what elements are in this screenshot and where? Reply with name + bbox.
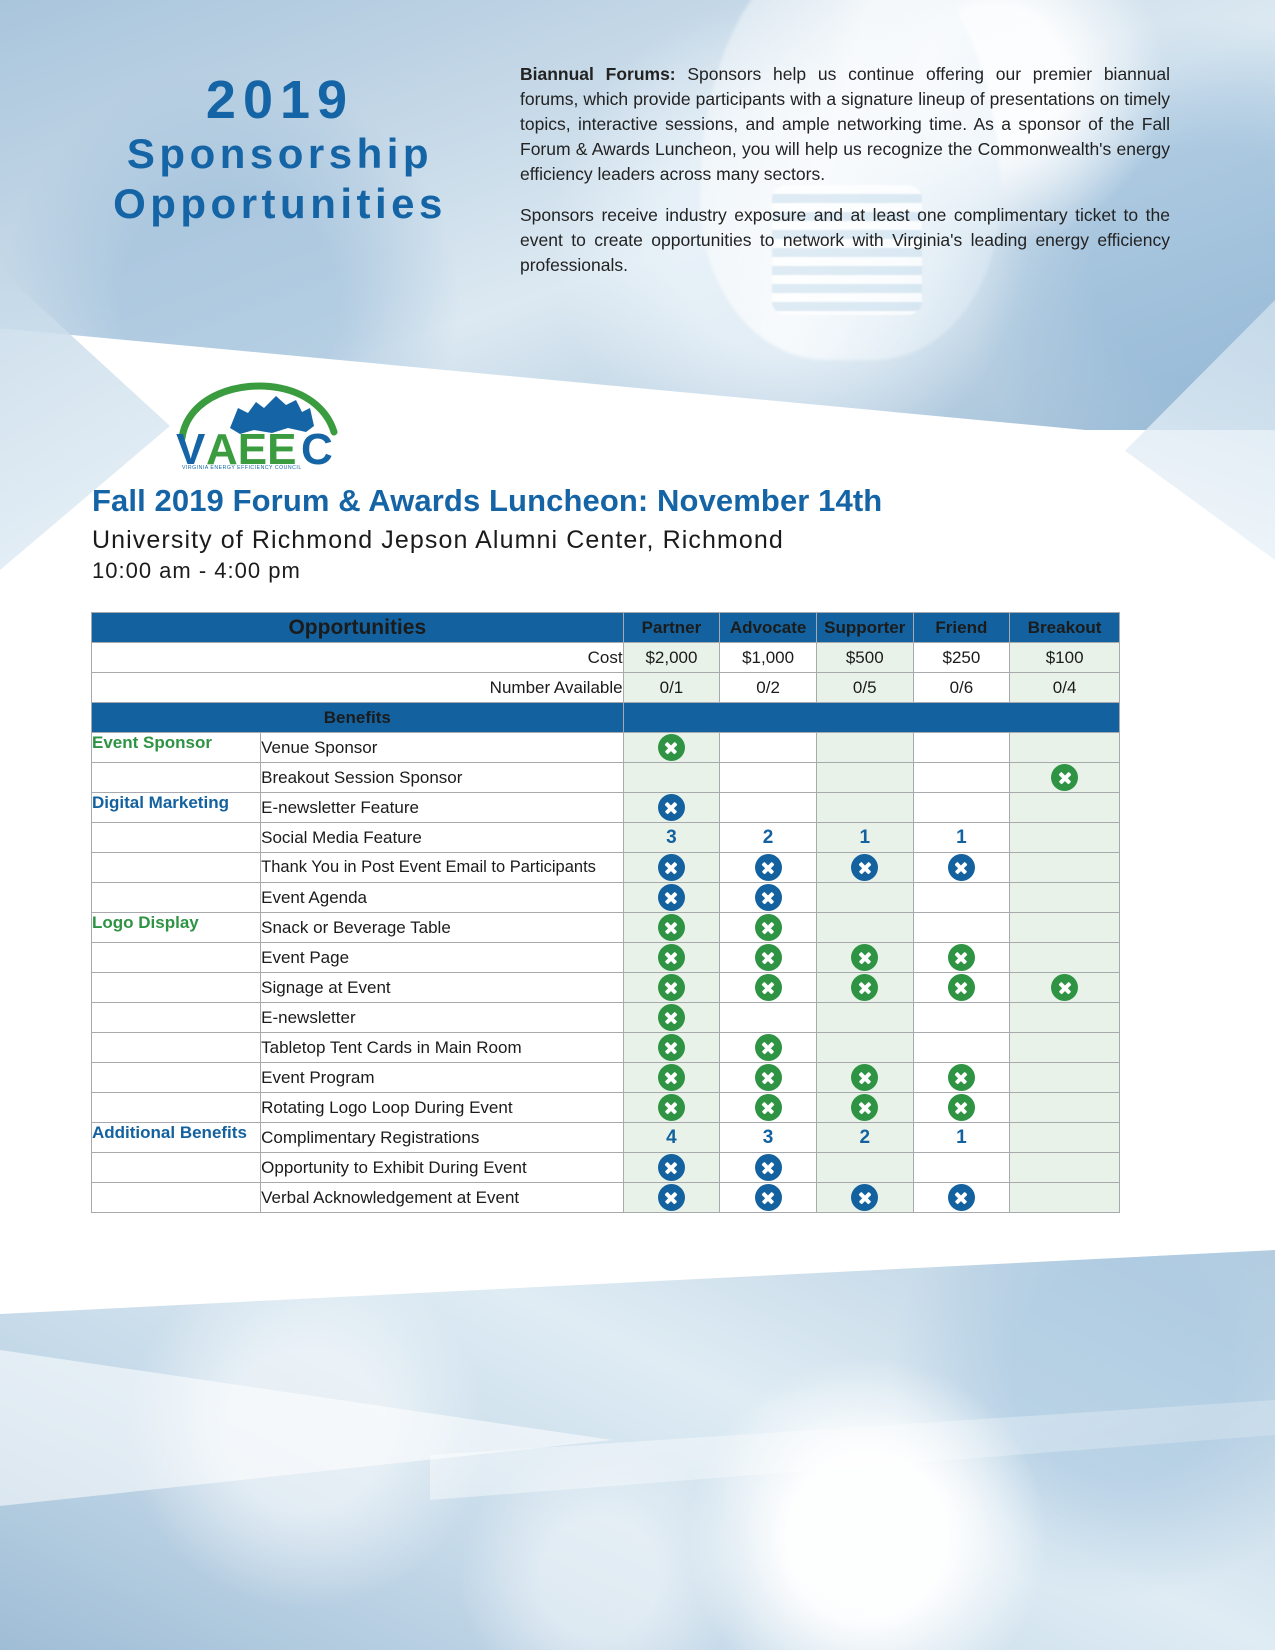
check-green-icon: [658, 1004, 685, 1031]
sponsorship-table: OpportunitiesPartnerAdvocateSupporterFri…: [91, 612, 1120, 1213]
benefit-category: [92, 943, 261, 973]
benefit-category: [92, 1003, 261, 1033]
benefit-cell: [623, 943, 720, 973]
check-green-icon: [658, 914, 685, 941]
check-green-icon: [851, 1094, 878, 1121]
benefit-cell: [816, 883, 913, 913]
benefit-label: Event Agenda: [261, 883, 623, 913]
intro-lead-label: Biannual Forums:: [520, 64, 676, 84]
check-green-icon: [755, 1064, 782, 1091]
intro-paragraph-1: Biannual Forums: Sponsors help us contin…: [520, 62, 1170, 187]
benefit-label: E-newsletter: [261, 1003, 623, 1033]
benefit-cell: 2: [816, 1123, 913, 1153]
check-green-icon: [755, 974, 782, 1001]
svg-text:C: C: [301, 425, 333, 470]
benefit-category: Logo Display: [92, 913, 261, 943]
benefit-label: E-newsletter Feature: [261, 793, 623, 823]
check-blue-icon: [755, 854, 782, 881]
page-header: 2019 Sponsorship Opportunities Biannual …: [0, 0, 1275, 360]
benefit-cell: [913, 913, 1010, 943]
svg-text:AEE: AEE: [206, 425, 296, 470]
benefit-cell: [816, 1003, 913, 1033]
benefit-cell: [1010, 1093, 1120, 1123]
benefit-cell: [623, 883, 720, 913]
benefit-cell: [623, 763, 720, 793]
check-green-icon: [851, 944, 878, 971]
column-header-partner: Partner: [623, 613, 720, 643]
intro-text-block: Biannual Forums: Sponsors help us contin…: [520, 62, 1170, 278]
benefit-cell: 3: [720, 1123, 817, 1153]
benefit-label: Signage at Event: [261, 973, 623, 1003]
benefit-cell: [720, 1033, 817, 1063]
table-row: Rotating Logo Loop During Event: [92, 1093, 1120, 1123]
benefit-cell: 3: [623, 823, 720, 853]
benefit-cell: [1010, 763, 1120, 793]
check-green-icon: [658, 1094, 685, 1121]
table-row: Social Media Feature3211: [92, 823, 1120, 853]
cost-value: $2,000: [623, 643, 720, 673]
benefit-category: [92, 823, 261, 853]
benefit-cell: [913, 733, 1010, 763]
benefit-quantity: 1: [956, 827, 967, 848]
benefit-label: Venue Sponsor: [261, 733, 623, 763]
table-row: Tabletop Tent Cards in Main Room: [92, 1033, 1120, 1063]
benefit-cell: [816, 913, 913, 943]
table-row: Verbal Acknowledgement at Event: [92, 1183, 1120, 1213]
sponsorship-table-wrapper: OpportunitiesPartnerAdvocateSupporterFri…: [91, 612, 1120, 1213]
benefit-label: Social Media Feature: [261, 823, 623, 853]
check-green-icon: [851, 1064, 878, 1091]
check-green-icon: [755, 914, 782, 941]
check-green-icon: [658, 1034, 685, 1061]
column-header-advocate: Advocate: [720, 613, 817, 643]
benefit-cell: [913, 1183, 1010, 1213]
number-available-value: 0/1: [623, 673, 720, 703]
check-blue-icon: [851, 1184, 878, 1211]
column-header-friend: Friend: [913, 613, 1010, 643]
benefit-cell: [720, 1153, 817, 1183]
benefit-cell: [1010, 853, 1120, 883]
benefit-category: [92, 1153, 261, 1183]
benefit-cell: [720, 943, 817, 973]
benefit-category: Additional Benefits: [92, 1123, 261, 1153]
svg-text:V: V: [176, 425, 206, 470]
benefit-cell: [816, 1093, 913, 1123]
column-header-opportunities: Opportunities: [92, 613, 624, 643]
table-row: Event Page: [92, 943, 1120, 973]
check-green-icon: [658, 944, 685, 971]
cost-value: $100: [1010, 643, 1120, 673]
benefit-cell: [623, 1153, 720, 1183]
benefit-label: Breakout Session Sponsor: [261, 763, 623, 793]
benefit-cell: [816, 793, 913, 823]
benefit-cell: [623, 1183, 720, 1213]
benefit-label: Tabletop Tent Cards in Main Room: [261, 1033, 623, 1063]
benefit-category: [92, 1093, 261, 1123]
check-green-icon: [1051, 974, 1078, 1001]
event-time: 10:00 am - 4:00 pm: [92, 558, 1142, 584]
benefit-category: Event Sponsor: [92, 733, 261, 763]
benefit-quantity: 2: [859, 1127, 870, 1148]
intro-paragraph-2: Sponsors receive industry exposure and a…: [520, 203, 1170, 278]
benefit-category: [92, 1033, 261, 1063]
benefit-cell: [816, 763, 913, 793]
benefit-cell: [1010, 1003, 1120, 1033]
benefit-cell: [720, 883, 817, 913]
number-available-value: 0/2: [720, 673, 817, 703]
benefit-cell: [1010, 973, 1120, 1003]
table-row-cost: Cost$2,000$1,000$500$250$100: [92, 643, 1120, 673]
check-green-icon: [658, 974, 685, 1001]
benefit-category: [92, 1183, 261, 1213]
benefit-cell: [913, 763, 1010, 793]
benefit-cell: [1010, 883, 1120, 913]
benefit-category: [92, 1063, 261, 1093]
benefit-cell: [816, 1153, 913, 1183]
table-header-row: OpportunitiesPartnerAdvocateSupporterFri…: [92, 613, 1120, 643]
benefit-cell: [720, 973, 817, 1003]
column-header-supporter: Supporter: [816, 613, 913, 643]
number-available-label: Number Available: [92, 673, 624, 703]
table-section-benefits: Benefits: [92, 703, 1120, 733]
title-year: 2019: [55, 72, 505, 129]
benefit-cell: [720, 853, 817, 883]
check-blue-icon: [851, 854, 878, 881]
table-row: Logo DisplaySnack or Beverage Table: [92, 913, 1120, 943]
check-green-icon: [658, 1064, 685, 1091]
benefit-cell: [720, 1183, 817, 1213]
benefit-cell: [623, 733, 720, 763]
check-blue-icon: [948, 854, 975, 881]
benefit-quantity: 4: [666, 1127, 677, 1148]
benefit-quantity: 3: [763, 1127, 774, 1148]
table-row: Breakout Session Sponsor: [92, 763, 1120, 793]
benefit-category: [92, 883, 261, 913]
benefit-cell: [623, 1093, 720, 1123]
benefit-cell: [913, 1093, 1010, 1123]
benefit-cell: [720, 1003, 817, 1033]
benefits-section-spacer: [623, 703, 1119, 733]
check-green-icon: [948, 1064, 975, 1091]
check-blue-icon: [658, 1184, 685, 1211]
benefit-category: [92, 973, 261, 1003]
cost-value: $1,000: [720, 643, 817, 673]
number-available-value: 0/4: [1010, 673, 1120, 703]
benefit-category: Digital Marketing: [92, 793, 261, 823]
table-row: Opportunity to Exhibit During Event: [92, 1153, 1120, 1183]
event-title: Fall 2019 Forum & Awards Luncheon: Novem…: [92, 482, 1142, 519]
check-blue-icon: [948, 1184, 975, 1211]
cost-value: $250: [913, 643, 1010, 673]
benefit-cell: [913, 883, 1010, 913]
check-blue-icon: [755, 884, 782, 911]
table-row: Additional BenefitsComplimentary Registr…: [92, 1123, 1120, 1153]
benefit-cell: 2: [720, 823, 817, 853]
benefit-cell: [913, 973, 1010, 1003]
check-green-icon: [948, 1094, 975, 1121]
benefit-quantity: 2: [763, 827, 774, 848]
benefit-category: [92, 853, 261, 883]
benefit-label: Snack or Beverage Table: [261, 913, 623, 943]
number-available-value: 0/5: [816, 673, 913, 703]
benefit-cell: [816, 943, 913, 973]
benefit-cell: [913, 1003, 1010, 1033]
benefit-cell: 4: [623, 1123, 720, 1153]
benefit-cell: [720, 733, 817, 763]
benefit-cell: [1010, 1153, 1120, 1183]
event-venue: University of Richmond Jepson Alumni Cen…: [92, 526, 1142, 555]
benefit-cell: [623, 973, 720, 1003]
benefit-cell: 1: [913, 823, 1010, 853]
benefit-cell: [1010, 1183, 1120, 1213]
benefit-cell: [1010, 733, 1120, 763]
benefit-cell: [1010, 943, 1120, 973]
check-green-icon: [851, 974, 878, 1001]
check-green-icon: [948, 944, 975, 971]
check-green-icon: [658, 734, 685, 761]
benefit-cell: 1: [816, 823, 913, 853]
benefit-cell: [1010, 1063, 1120, 1093]
benefit-cell: [720, 1093, 817, 1123]
check-blue-icon: [658, 794, 685, 821]
benefit-cell: [623, 793, 720, 823]
benefit-cell: [623, 1033, 720, 1063]
benefit-cell: 1: [913, 1123, 1010, 1153]
benefit-cell: [816, 1033, 913, 1063]
page-title: 2019 Sponsorship Opportunities: [55, 72, 505, 229]
table-row-number-available: Number Available0/10/20/50/60/4: [92, 673, 1120, 703]
benefit-cell: [720, 913, 817, 943]
table-row: Event Agenda: [92, 883, 1120, 913]
benefit-cell: [816, 1063, 913, 1093]
table-row: Thank You in Post Event Email to Partici…: [92, 853, 1120, 883]
cost-value: $500: [816, 643, 913, 673]
vaeec-logo: V AEE C VIRGINIA ENERGY EFFICIENCY COUNC…: [168, 378, 346, 470]
benefit-cell: [623, 913, 720, 943]
title-sponsorship: Sponsorship: [55, 129, 505, 179]
check-green-icon: [948, 974, 975, 1001]
benefit-cell: [816, 973, 913, 1003]
table-row: Digital MarketingE-newsletter Feature: [92, 793, 1120, 823]
benefit-cell: [913, 1153, 1010, 1183]
table-row: E-newsletter: [92, 1003, 1120, 1033]
benefit-cell: [720, 1063, 817, 1093]
check-blue-icon: [658, 854, 685, 881]
benefit-cell: [623, 853, 720, 883]
benefit-cell: [913, 943, 1010, 973]
check-blue-icon: [755, 1154, 782, 1181]
benefit-label: Opportunity to Exhibit During Event: [261, 1153, 623, 1183]
number-available-value: 0/6: [913, 673, 1010, 703]
cost-label: Cost: [92, 643, 624, 673]
check-blue-icon: [755, 1184, 782, 1211]
benefit-cell: [623, 1003, 720, 1033]
benefit-cell: [1010, 823, 1120, 853]
benefit-cell: [720, 793, 817, 823]
vaeec-logo-icon: V AEE C VIRGINIA ENERGY EFFICIENCY COUNC…: [168, 378, 346, 470]
benefit-cell: [1010, 913, 1120, 943]
benefit-cell: [1010, 793, 1120, 823]
benefit-category: [92, 763, 261, 793]
sponsorship-table-body: OpportunitiesPartnerAdvocateSupporterFri…: [92, 613, 1120, 1213]
benefit-cell: [816, 733, 913, 763]
benefit-cell: [913, 1033, 1010, 1063]
table-row: Event SponsorVenue Sponsor: [92, 733, 1120, 763]
benefit-cell: [1010, 1123, 1120, 1153]
benefit-label: Rotating Logo Loop During Event: [261, 1093, 623, 1123]
column-header-breakout: Breakout: [1010, 613, 1120, 643]
benefit-label: Verbal Acknowledgement at Event: [261, 1183, 623, 1213]
benefit-cell: [913, 1063, 1010, 1093]
benefit-cell: [816, 853, 913, 883]
logo-tagline: VIRGINIA ENERGY EFFICIENCY COUNCIL: [182, 465, 302, 470]
benefit-quantity: 3: [666, 827, 677, 848]
event-heading-block: Fall 2019 Forum & Awards Luncheon: Novem…: [92, 482, 1142, 584]
table-row: Signage at Event: [92, 973, 1120, 1003]
benefit-cell: [913, 853, 1010, 883]
benefit-cell: [816, 1183, 913, 1213]
check-blue-icon: [658, 1154, 685, 1181]
check-green-icon: [1051, 764, 1078, 791]
benefit-label: Complimentary Registrations: [261, 1123, 623, 1153]
benefit-cell: [720, 763, 817, 793]
benefit-cell: [623, 1063, 720, 1093]
benefit-cell: [913, 793, 1010, 823]
benefit-quantity: 1: [859, 827, 870, 848]
check-green-icon: [755, 1094, 782, 1121]
benefit-label: Event Program: [261, 1063, 623, 1093]
benefit-label: Event Page: [261, 943, 623, 973]
benefit-quantity: 1: [956, 1127, 967, 1148]
check-green-icon: [755, 944, 782, 971]
title-opportunities: Opportunities: [55, 179, 505, 229]
check-green-icon: [755, 1034, 782, 1061]
table-row: Event Program: [92, 1063, 1120, 1093]
benefits-section-label: Benefits: [92, 703, 624, 733]
check-blue-icon: [658, 884, 685, 911]
sponsorship-flyer-page: 2019 Sponsorship Opportunities Biannual …: [0, 0, 1275, 1650]
benefit-cell: [1010, 1033, 1120, 1063]
benefit-label: Thank You in Post Event Email to Partici…: [261, 853, 623, 883]
logo-wordmark: V AEE C: [176, 425, 333, 470]
